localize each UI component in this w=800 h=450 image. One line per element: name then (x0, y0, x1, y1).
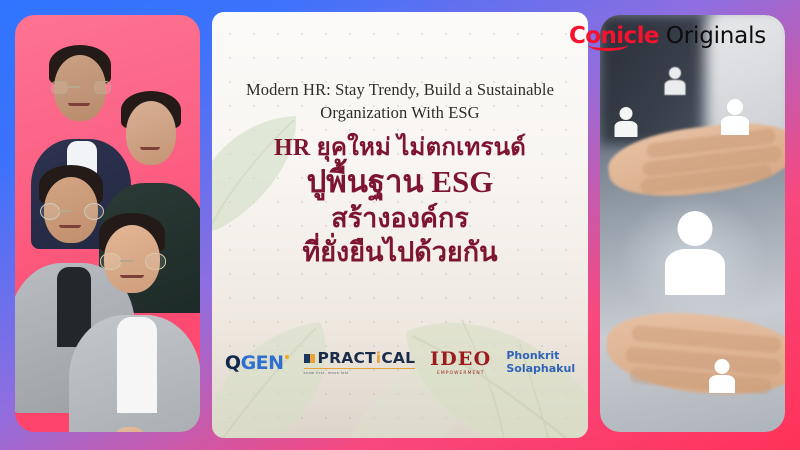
glasses-icon (100, 253, 166, 269)
english-title: Modern HR: Stay Trendy, Build a Sustaina… (235, 78, 565, 125)
ideo-logo: IDEO EMPOWERMENT (430, 350, 491, 376)
person-icon (612, 107, 640, 137)
practical-underline (304, 368, 416, 369)
person-icon (718, 99, 752, 135)
person-smile (68, 103, 90, 106)
partner-logo-row: Q GEN PRACTiCAL know first, move fast ID… (212, 350, 588, 376)
practical-tagline: know first, move fast (304, 371, 349, 375)
qgen-accent-dot-icon (285, 355, 289, 359)
ideo-logo-tagline: EMPOWERMENT (437, 371, 484, 376)
speaker-person-4 (81, 211, 189, 432)
person-head (126, 101, 176, 165)
speaker-name-line-2: Solaphakul (506, 363, 575, 376)
qgen-logo-q: Q (225, 354, 241, 373)
person-smile (120, 275, 144, 278)
thai-title-line-4: ที่ยั่งยืนไปด้วยกัน (222, 235, 578, 269)
qgen-logo: Q GEN (225, 354, 289, 373)
conicle-originals-logo: Conicle Originals (569, 25, 766, 48)
hand-lower (603, 307, 785, 402)
person-icon-primary (655, 211, 735, 295)
speaker-name: Phonkrit Solaphakul (506, 350, 575, 376)
conicle-smile-icon (588, 39, 628, 51)
person-smile (59, 225, 81, 228)
hands-photo-card (600, 15, 785, 432)
originals-wordmark: Originals (666, 25, 766, 48)
thai-title-line-3: สร้างองค์กร (222, 201, 578, 235)
ideo-logo-word: IDEO (430, 350, 491, 369)
speakers-photo-card (15, 15, 200, 432)
person-icon (706, 359, 738, 393)
person-smile (140, 147, 160, 150)
practical-logo: PRACTiCAL know first, move fast (304, 351, 416, 375)
thai-title-line-2: ปูพื้นฐาน ESG (222, 163, 578, 201)
person-icon (662, 67, 688, 95)
person-shirt (117, 317, 157, 413)
content-card: Modern HR: Stay Trendy, Build a Sustaina… (212, 12, 588, 438)
glasses-icon (51, 81, 111, 95)
thai-title: HR ยุคใหม่ ไม่ตกเทรนด์ ปูพื้นฐาน ESG สร้… (222, 134, 578, 269)
thai-title-line-1: HR ยุคใหม่ ไม่ตกเทรนด์ (222, 134, 578, 163)
poster-canvas: Modern HR: Stay Trendy, Build a Sustaina… (0, 0, 800, 450)
practical-mark-icon (304, 354, 315, 363)
conicle-wordmark: Conicle (569, 25, 659, 48)
qgen-logo-gen: GEN (241, 354, 284, 373)
practical-logo-word: PRACTiCAL (318, 351, 416, 367)
